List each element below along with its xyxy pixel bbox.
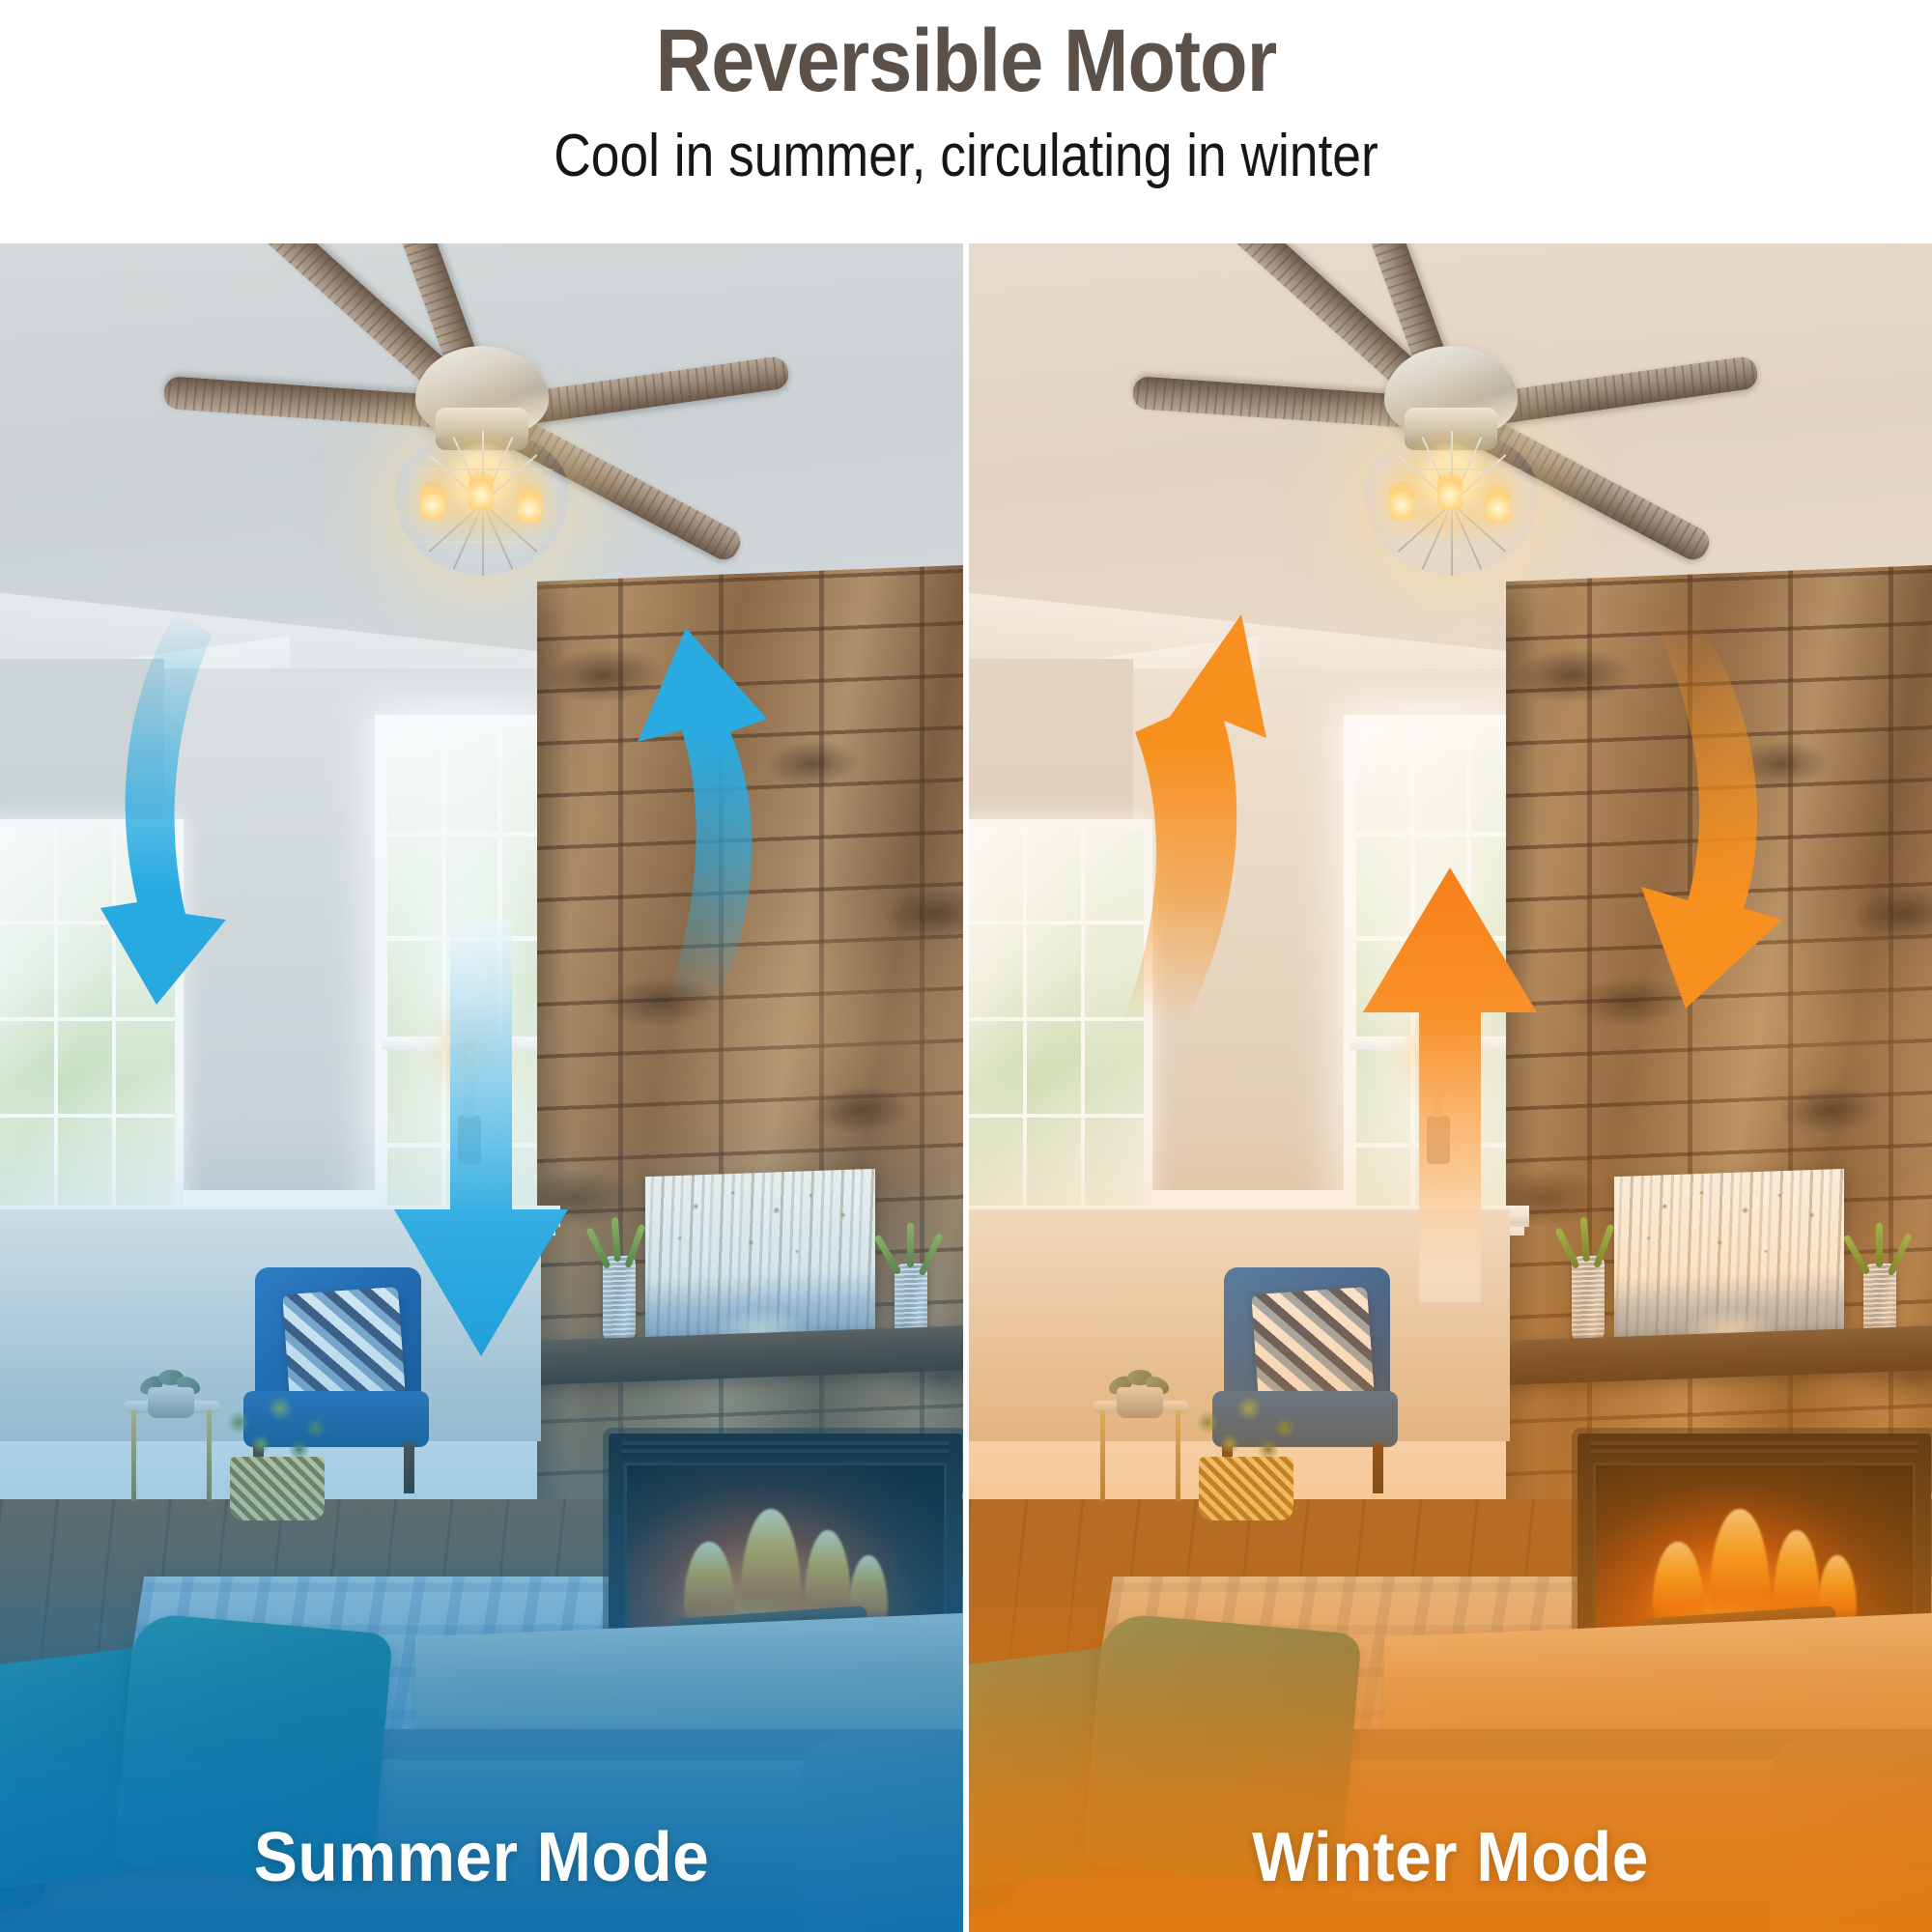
comparison-panels: Summer Mode	[0, 243, 1932, 1932]
light-bulb	[420, 481, 445, 520]
arrow-straight-down	[384, 920, 578, 1364]
light-bulb	[1486, 485, 1511, 524]
page-subtitle: Cool in summer, circulating in winter	[135, 124, 1797, 189]
arrow-curve-up-right	[578, 618, 867, 1005]
page-title: Reversible Motor	[116, 14, 1816, 109]
header-banner: Reversible Motor Cool in summer, circula…	[0, 0, 1932, 243]
light-bulb	[517, 485, 542, 524]
arrow-curve-up-right	[1062, 620, 1371, 1026]
basket-plant	[205, 1385, 350, 1520]
light-bulb	[1437, 471, 1463, 510]
potted-plant	[135, 1350, 207, 1418]
arrow-curve-down-left	[81, 618, 390, 1024]
vase-left	[1572, 1255, 1605, 1345]
ceiling-fan-summer	[47, 253, 917, 543]
birch-tree-painting	[645, 1169, 875, 1350]
panel-summer-mode: Summer Mode	[0, 243, 963, 1932]
light-bulb	[1389, 481, 1414, 520]
basket-plant	[1174, 1385, 1319, 1520]
arrow-straight-up	[1353, 862, 1547, 1306]
birch-tree-painting	[1614, 1169, 1844, 1350]
panel-winter-mode: Winter Mode	[969, 243, 1932, 1932]
panel-divider	[963, 243, 969, 1932]
mode-label-summer: Summer Mode	[29, 1818, 934, 1897]
ceiling-fan-winter	[1016, 253, 1886, 543]
infographic-root: Reversible Motor Cool in summer, circula…	[0, 0, 1932, 1932]
mode-label-winter: Winter Mode	[998, 1818, 1903, 1897]
arrow-curve-down-left	[1545, 618, 1854, 1024]
light-bulb	[469, 471, 494, 510]
potted-plant	[1104, 1350, 1176, 1418]
vase-left	[603, 1255, 636, 1345]
